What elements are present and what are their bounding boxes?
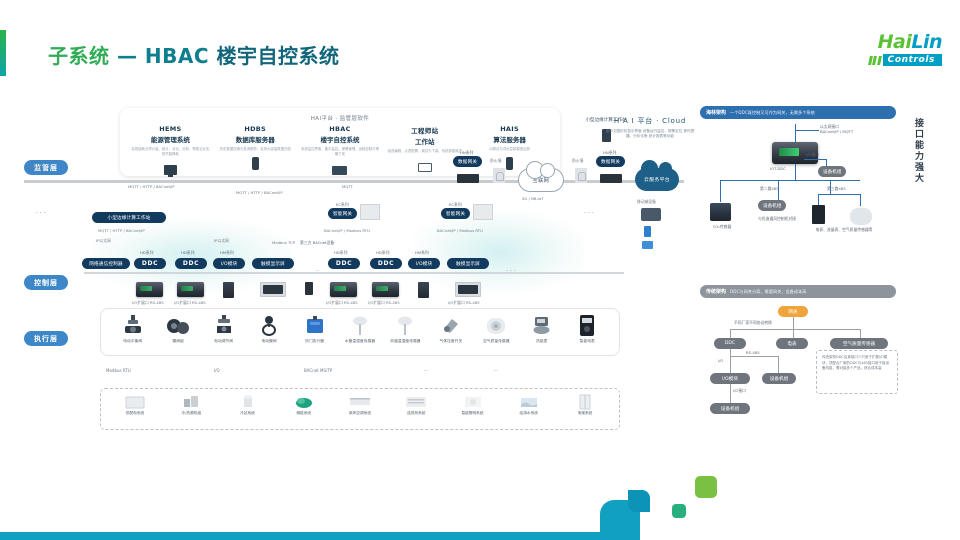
system-label: 智能照明系统 [447,411,499,416]
traditional-equipment-node-2[interactable]: 设备机组 [710,403,750,414]
uplink-protocol: BACnet/IP / MQTT [820,129,853,134]
pipe-sensor-icon [337,313,382,339]
water-icon [503,393,555,411]
hdbs-desc: 历史数据存储与查询服务，支持大容量数据归档 [216,147,294,152]
exec-item[interactable]: 气体压差开关 [428,313,473,344]
page-title-part2: — HBAC [117,44,217,68]
motor-valve-icon [246,313,291,339]
system-label: 冷站系统 [222,411,274,416]
lighting-icon [447,393,499,411]
hbac-code: HBAC [301,125,379,133]
third-party-label: 第三方 BACnet设备 [300,240,334,246]
exec-item[interactable]: 热能表 [519,313,564,344]
ellipsis-far-right: ··· [506,268,518,275]
traditional-ddc-node[interactable]: DDC [714,338,746,349]
logo-text-lin: Lin [911,31,942,53]
traditional-io-module-node[interactable]: I/O模块 [710,373,750,384]
uplink-port-name: 以太网接口 [820,124,839,129]
exec-label: 风道温湿度传感器 [383,339,428,344]
supervisory-item-hbac[interactable]: HBAC 楼宇自控系统 系统监控界面，集中监控、报警管理、远程控制与策略下发 [301,125,379,175]
bacnet-mstp-label: BACnet MS/TP [304,368,332,373]
hm-series-label-2: HM系列 [415,250,429,256]
exec-label: 电动平衡阀 [110,339,155,344]
deco-square-mint [672,504,686,518]
power-icon [109,393,161,411]
hailin-arch-tag: 海林架构 [706,109,726,116]
coldstation-icon [222,393,274,411]
ip-label-b: IP以太网 [214,238,229,244]
internet-label: 互联网 [533,177,550,184]
hailin-equipment-node-1[interactable]: 设备机组 [818,166,846,177]
ec-gateway-device-2 [473,204,493,220]
logo-subwordmark: Controls [830,54,942,66]
exec-label: 蝶阀组 [155,339,200,344]
system-item[interactable]: 智能照明系统 [447,393,499,416]
bottom-teal-bar [0,532,600,540]
traditional-architecture-header: 传统架构 DDC与网关分离，需要网关，设备成本高 [700,285,896,298]
co2-sensor-label: CO₂传感器 [702,224,742,229]
exec-item[interactable]: 风门执行器 [292,313,337,344]
page-title: 子系统 — HBAC 楼宇自控系统 [48,40,340,69]
balance-valve-icon [110,313,155,339]
gateway-trunk [793,317,794,329]
traditional-arch-desc: DDC与网关分离，需要网关，设备成本高 [730,289,806,295]
bacnet-modbus-label-1: BACnet/IP / Modbus RTU [324,228,370,233]
heat-meter-icon [519,313,564,339]
architecture-comparison-panel: 海林架构 一个DDC既控制又可作为网关，无需多个系统 IOT-DDC 以太网接口… [700,100,910,445]
hailin-bus-trunk [795,164,796,180]
system-label: 供配电系统 [109,411,161,416]
hm-series-label-1: HM系列 [220,250,234,256]
gateway-bus [730,329,860,330]
wan-protocol-label: 5G / NB-IoT [522,196,544,201]
system-item[interactable]: 新风空调系统 [334,393,386,416]
proto-ellipsis-2: ··· [494,368,498,373]
building-systems-box: 供配电系统 冷/热源机组 冷站系统 储能系统 新风空调系统 送排风系统 [100,388,620,430]
execution-layer-box: 电动平衡阀 蝶阀组 电动调节阀 电动蝶阀 风门执行器 水管温湿度传感器 [100,308,620,356]
supervisory-card: HAI平台 · 监管层软件 HEMS 能源管理系统 实现能耗分项计量、统计、对比… [120,108,560,176]
protocol-conversion-note: 不同厂家不同协议转换 [734,320,772,325]
internet-cloud: 互联网 [518,168,564,192]
bus-protocol-label-2: MQTT / HTTP / BACnet/IP [98,228,145,233]
bus-protocol-label-3: MQTT / HTTP / BACnet/IP [236,190,283,195]
hd-series-label-4: HD系列 [376,250,389,256]
firewall-label-1: 防火墙 [490,158,501,164]
logo-bars-icon [869,56,881,65]
touch-screen-device-2 [455,282,481,297]
touch-screen-chip-2[interactable]: 触摸显示屏 [447,258,489,269]
cloud-service-label: 云服务平台 [644,176,670,183]
supervisory-item-engineer[interactable]: 工程师站 工作站 组态编辑、点表配置、调试与下装、系统参数维护 [386,125,464,175]
hd-series-label-3: HD系列 [334,250,347,256]
ddc-uplink-line [795,124,796,142]
ellipsis-mid: ··· [316,268,320,273]
hais-desc: AI算法与寻优控制模型运算 [471,147,549,152]
layer-pill-control: 控制层 [24,275,68,290]
system-label: 冷/热源机组 [165,411,217,416]
supervisory-card-header: HAI平台 · 监管层软件 [120,108,560,122]
system-label: 新风空调系统 [334,411,386,416]
duct-sensor-icon [383,313,428,339]
exec-label: 智能电表 [565,339,610,344]
firewall-icon-2 [575,168,587,183]
ellipsis-left: ··· [36,210,48,217]
system-label: 储能系统 [278,411,330,416]
traditional-cost-note: 传统架构DDC自身接口少只用于扩展I/O模块，须配合厂家的DDC与485接口用于… [816,350,898,394]
bottom-decoration [0,470,960,540]
ec-gateway-chip-2[interactable]: 智能网关 [441,208,470,219]
exec-item[interactable]: 电动蝶阀 [246,313,291,344]
ddc-chip-4[interactable]: DDC [370,258,402,269]
ip-wire-label-left: IP以太网 [29,165,44,171]
hdbs-name: 数据库服务器 [216,134,294,144]
uplink-port-label: 以太网接口 BACnet/IP / MQTT [820,124,853,135]
chiller-icon [165,393,217,411]
traditional-air-node[interactable]: 空气质量传感器 [830,338,888,349]
ddc-device-3 [330,282,357,297]
ddc-io-line [804,159,826,160]
exec-item[interactable]: 水管温湿度传感器 [337,313,382,344]
bas-icon [301,161,379,175]
co2-sensor-device [710,203,731,221]
hd-series-label-2: HD系列 [181,250,194,256]
hai-platform-desc: 全中文图形化显示界面 设备运行监控、报警定位 即时提醒、分析诊断 统计报表等功能 [604,129,696,140]
gateway-branch-ddc [730,329,731,338]
hd-series-label-1: HD系列 [140,250,153,256]
iot-ddc-label: IOT-DDC [770,166,786,171]
logo-wordmark: HaiLin [830,32,942,52]
io-module-chip-2[interactable]: I/O模块 [408,258,440,269]
rs485-label-4: I/O扩展口 RS-485 [368,300,400,306]
ddc-rs485-branch [730,356,778,357]
system-item[interactable]: 送排风系统 [390,393,442,416]
system-item[interactable]: 冷/热源机组 [165,393,217,416]
server-icon [216,156,294,170]
ddc-device-4 [372,282,399,297]
ddc-uplink-branch [795,130,819,131]
exec-label: 电动蝶阀 [246,339,291,344]
air-quality-icon [474,313,519,339]
io-module-device-2 [418,282,429,298]
exec-item[interactable]: 电动调节阀 [201,313,246,344]
firewall-label-2: 防火墙 [572,158,583,164]
ip-label-a: IP以太网 [96,238,111,244]
exec-item[interactable]: 空气质量传感器 [474,313,519,344]
system-label: 送排风系统 [390,411,442,416]
gateway-branch-meter [793,329,794,338]
page-title-part1: 子系统 [48,44,117,68]
third-party-device [305,282,313,295]
layer-pill-execution: 执行层 [24,331,68,346]
bacnet-modbus-label-2: BACnet/IP / Modbus RTU [437,228,483,233]
rs485-drop [778,356,779,373]
system-item[interactable]: 给排水系统 [503,393,555,416]
exec-item[interactable]: 电动平衡阀 [110,313,155,344]
second-bus-label: 第二路485 [760,186,779,191]
ec-gateway-device-1 [360,204,380,220]
hn-gateway-chip-1[interactable]: 数据网关 [453,156,482,167]
hais-code: HAIS [471,125,549,133]
system-label: 给排水系统 [503,411,555,416]
exec-item[interactable]: 风道温湿度传感器 [383,313,428,344]
ahu-icon [334,393,386,411]
logo-text-controls: Controls [883,54,942,66]
hai-cloud-block: H A I 平台 · Cloud 全中文图形化显示界面 设备运行监控、报警定位 … [604,116,696,140]
proto-ellipsis-1: ··· [424,368,428,373]
equipment-cabinet-note: 与优造通风控制柜对接 [746,216,808,221]
traditional-arch-tag: 传统架构 [706,288,726,295]
elevator-icon [559,393,611,411]
monitor-icon [131,161,209,175]
io-module-chip-1[interactable]: I/O模块 [213,258,245,269]
supervisory-item-hdbs[interactable]: HDBS 数据库服务器 历史数据存储与查询服务，支持大容量数据归档 [216,125,294,175]
fan-icon [390,393,442,411]
system-item[interactable]: 供配电系统 [109,393,161,416]
control-zone-glow-2 [414,212,584,292]
pressure-switch-icon [428,313,473,339]
title-accent-bar [0,30,6,76]
ddc-chip-1[interactable]: DDC [134,258,166,269]
deco-square-teal-sm [628,490,650,512]
system-item[interactable]: 冷站系统 [222,393,274,416]
hn-gateway-device-2 [600,174,622,183]
network-controller-chip[interactable]: 网络通信控制器 [82,258,130,269]
io-label: I/O [214,368,220,373]
hn-gateway-device-1 [457,174,479,183]
hn-gateway-chip-2[interactable]: 数据网关 [596,156,625,167]
gateway-node[interactable]: 网关 [778,306,808,317]
page-title-part3: 楼宇自控系统 [217,44,340,68]
smart-meter-icon [565,313,610,339]
vertical-slogan: 接口能力强大 [908,118,924,184]
ellipsis-right: ··· [584,210,596,217]
system-label: 电梯系统 [559,411,611,416]
exec-item[interactable]: 蝶阀组 [155,313,200,344]
hailin-architecture-header: 海林架构 一个DDC既控制又可作为网关，无需多个系统 [700,106,896,119]
io-module-down [730,384,731,403]
hems-name: 能源管理系统 [131,134,209,144]
ddc-down-trunk [730,349,731,373]
sensors-label: 电表、流量表、空气质量传感器等 [804,227,884,232]
logo-text-hai: Hai [878,31,912,53]
ddc-chip-2[interactable]: DDC [175,258,207,269]
io-module-device-1 [223,282,234,298]
exec-label: 空气质量传感器 [474,339,519,344]
ddc-device-2 [177,282,204,297]
hems-code: HEMS [131,125,209,133]
laptop-device-icon [641,208,661,221]
io-port-label: I/O接口 [806,152,819,157]
deco-square-green [695,476,717,498]
engineer-name: 工作站 [386,136,464,146]
rs485-label-5: I/O扩展口 RS-485 [448,300,480,306]
third-bus-label: 第三路485 [827,186,846,191]
hailin-logo: HaiLin Controls [830,32,942,74]
modbus-tcp-label: Modbus TCP [272,240,295,245]
hailin-branch-1 [720,180,721,202]
rs485-label-2: I/O扩展口 RS-485 [174,300,206,306]
phone-device-icon [644,226,651,237]
exec-label: 热能表 [519,339,564,344]
traditional-io-label: I/O [718,358,723,363]
hems-desc: 实现能耗分项计量、统计、对比、分析，帮助企业实现节能降耗 [131,147,209,157]
exec-label: 水管温湿度传感器 [337,339,382,344]
hailin-bus-horizontal [720,180,860,181]
hais-name: 算法服务器 [471,134,549,144]
exec-label: 风门执行器 [292,339,337,344]
traditional-meter-node[interactable]: 电表 [776,338,808,349]
touch-screen-device-1 [260,282,286,297]
hbac-desc: 系统监控界面，集中监控、报警管理、远程控制与策略下发 [301,147,379,157]
hailin-branch-3b [860,194,861,206]
mobile-devices-label: 移动端设备 [637,199,656,205]
hailin-branch-3-split [818,194,860,195]
gateway-branch-air [860,329,861,338]
ddc-device-1 [136,282,163,297]
cloud-service-platform[interactable]: 云服务平台 [635,168,679,191]
damper-actuator-icon [292,313,337,339]
rs485-label-3: I/O扩展口 RS-485 [326,300,358,306]
control-valve-icon [201,313,246,339]
system-item[interactable]: 电梯系统 [559,393,611,416]
rs485-label-1: I/O扩展口 RS-485 [132,300,164,306]
hailin-equipment-node-2[interactable]: 设备机组 [758,200,786,211]
storage-icon [278,393,330,411]
exec-label: 电动调节阀 [201,339,246,344]
ec-gateway-chip-1[interactable]: 智能网关 [328,208,357,219]
butterfly-valve-icon [155,313,200,339]
embedded-edge-controller-chip[interactable]: 小型边缘计算工作站 [92,212,166,223]
hbac-name: 楼宇自控系统 [301,134,379,144]
engineer-code: 工程师站 [386,125,464,135]
traditional-rs485-label: RS-485 [746,350,760,355]
touch-screen-chip-1[interactable]: 触摸显示屏 [252,258,294,269]
architecture-diagram: 监管层 控制层 执行层 HAI平台 · 监管层软件 HEMS 能源管理系统 实现… [24,100,684,445]
traditional-equipment-node-1[interactable]: 设备机组 [762,373,796,384]
control-bus-line [84,272,624,274]
air-quality-device [850,208,872,225]
firewall-icon-1 [493,168,505,183]
exec-label: 气体压差开关 [428,339,473,344]
exec-item[interactable]: 智能电表 [565,313,610,344]
bus-protocol-label-1: MQTT / HTTP / BACnet/IP [128,184,175,189]
modbus-rtu-label: Modbus RTU [106,368,131,373]
mqtt-label-mid: MQTT [342,184,353,189]
system-item[interactable]: 储能系统 [278,393,330,416]
traditional-io-port-label: I/O接口 [733,388,746,393]
hailin-arch-desc: 一个DDC既控制又可作为网关，无需多个系统 [730,110,815,116]
hai-platform-title: H A I 平台 · Cloud [604,116,696,126]
engineer-desc: 组态编辑、点表配置、调试与下装、系统参数维护 [386,149,464,154]
meter-device [812,205,825,224]
hdbs-code: HDBS [216,125,294,133]
ddc-chip-3[interactable]: DDC [328,258,360,269]
tablet-device-icon [642,241,653,249]
supervisory-item-hems[interactable]: HEMS 能源管理系统 实现能耗分项计量、统计、对比、分析，帮助企业实现节能降耗 [131,125,209,175]
